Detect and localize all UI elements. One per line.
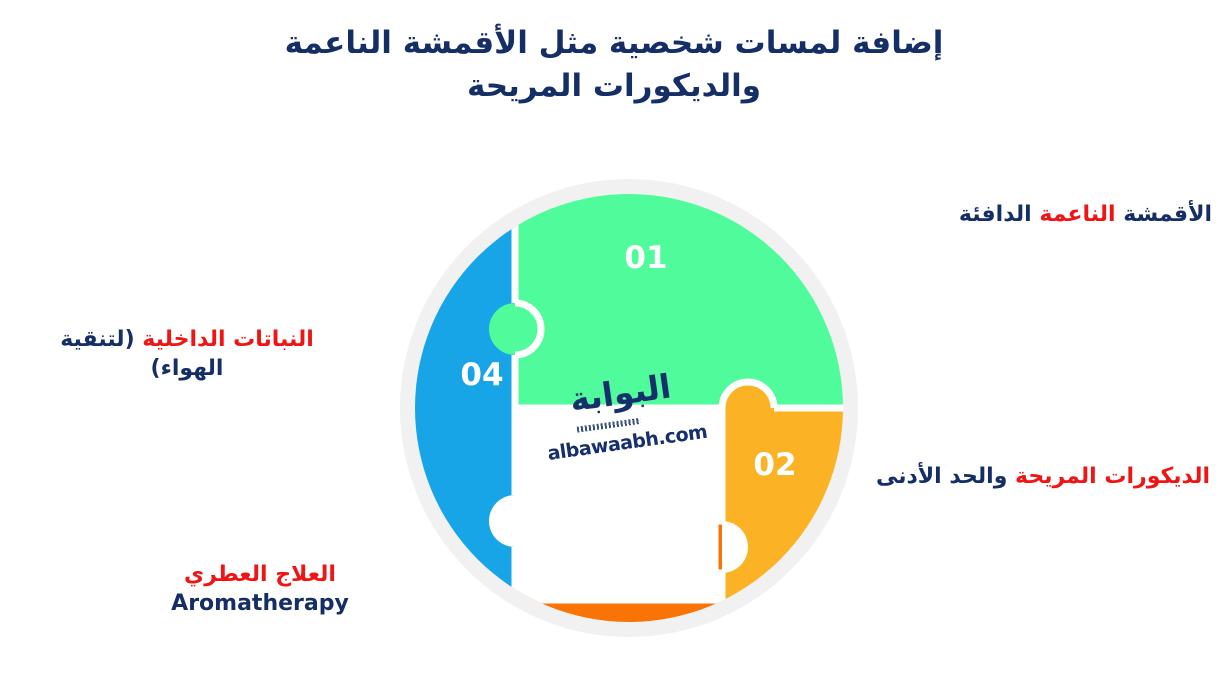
page-title: إضافة لمسات شخصية مثل الأقمشة الناعمة وا… xyxy=(0,22,1228,108)
label-04-highlight: النباتات الداخلية xyxy=(142,327,314,352)
piece-03-number: 03 xyxy=(557,543,600,579)
piece-02-number: 02 xyxy=(753,447,796,483)
label-02-highlight: الديكورات المريحة xyxy=(1015,464,1210,489)
piece-01-number: 01 xyxy=(624,240,667,276)
label-item-01: الأقمشة الناعمة الدافئة xyxy=(822,200,1212,229)
label-item-02: الديكورات المريحة والحد الأدنى xyxy=(868,462,1218,491)
infographic-canvas: إضافة لمسات شخصية مثل الأقمشة الناعمة وا… xyxy=(0,0,1228,681)
label-item-03: العلاج العطريAromatherapy xyxy=(150,560,370,618)
label-01-suffix: الدافئة xyxy=(959,202,1039,227)
center-well-final xyxy=(519,412,719,597)
label-03-highlight: العلاج العطري xyxy=(184,562,336,587)
label-item-04: النباتات الداخلية (لتنقية الهواء) xyxy=(22,325,352,383)
label-03-english: Aromatherapy xyxy=(150,589,370,618)
label-01-prefix: الأقمشة xyxy=(1116,202,1212,227)
label-01-highlight: الناعمة xyxy=(1039,202,1115,227)
puzzle-wheel: 01 02 03 04 xyxy=(394,155,864,653)
piece-04-number: 04 xyxy=(460,357,503,393)
label-02-suffix: والحد الأدنى xyxy=(876,464,1015,489)
